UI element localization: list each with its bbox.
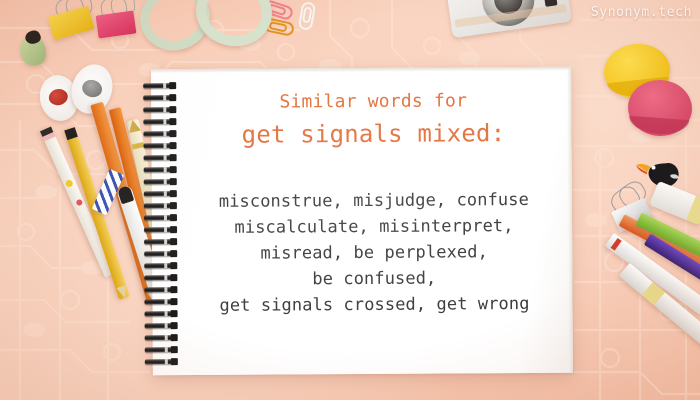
synonym-line: be confused,	[186, 265, 562, 293]
brand-logo[interactable]: Synonym.tech	[591, 5, 692, 21]
synonym-line: misread, be perplexed,	[186, 239, 562, 267]
synonym-list: misconstrue, misjudge, confuse miscalcul…	[186, 187, 563, 319]
search-term: get signals mixed:	[185, 117, 561, 151]
notepad-content: Similar words for get signals mixed: mis…	[185, 89, 562, 319]
binder-clip-yellow	[50, 5, 96, 37]
synonym-line: get signals crossed, get wrong	[186, 291, 562, 319]
spiral-binding	[143, 83, 179, 363]
binder-clip-pink	[97, 6, 139, 38]
heading-prefix: Similar words for	[185, 89, 561, 115]
notepad: Similar words for get signals mixed: mis…	[151, 67, 573, 376]
synonym-line: misconstrue, misjudge, confuse	[186, 187, 562, 215]
synonym-line: miscalculate, misinterpret,	[186, 213, 562, 241]
screenshot-root: Similar words for get signals mixed: mis…	[0, 0, 700, 400]
